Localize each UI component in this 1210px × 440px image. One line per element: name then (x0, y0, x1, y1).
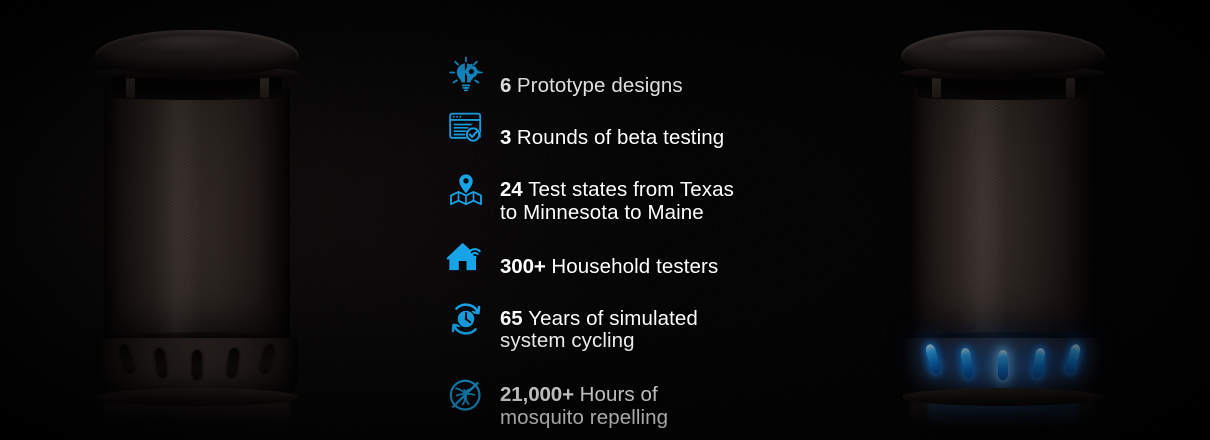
promo-banner: 6 Prototype designs (0, 0, 1210, 440)
background-vignette (0, 0, 1210, 440)
